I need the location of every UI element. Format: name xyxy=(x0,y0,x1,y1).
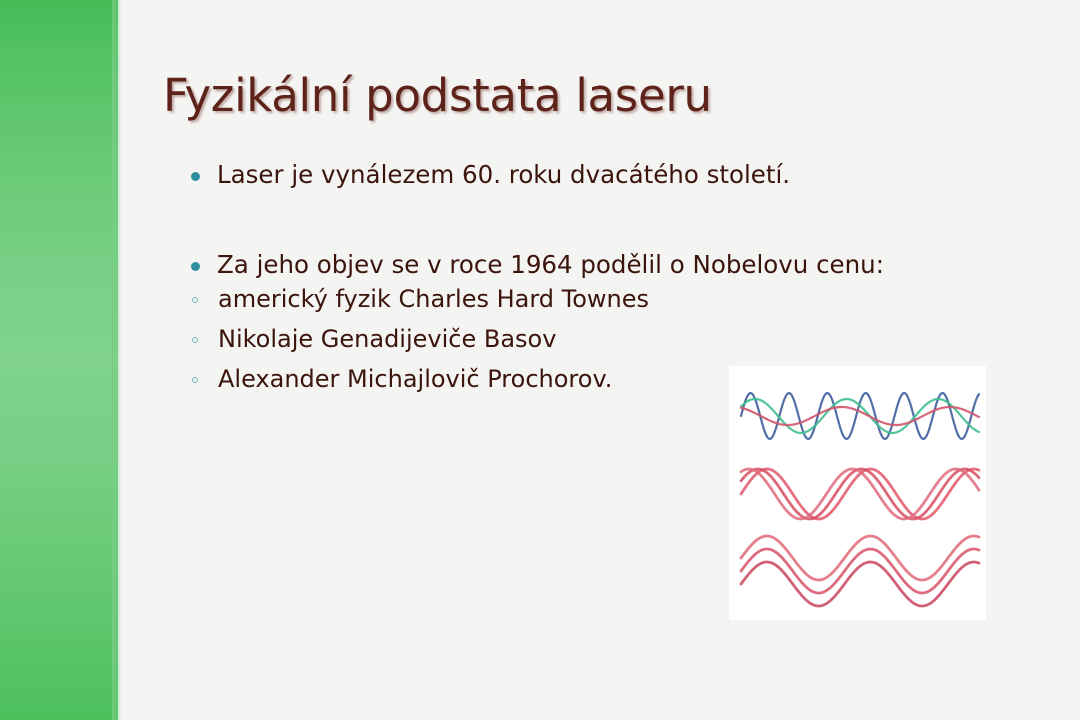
bullet-circle-icon xyxy=(192,377,198,383)
list-item: americký fyzik Charles Hard Townes xyxy=(180,282,1010,316)
list-item-label: Nikolaje Genadijeviče Basov xyxy=(218,325,556,353)
list-spacer xyxy=(180,192,1010,248)
bullet-circle-icon xyxy=(192,337,198,343)
left-accent-band-fade xyxy=(112,0,122,720)
bullet-circle-icon xyxy=(192,297,198,303)
bullet-dot-icon xyxy=(191,172,200,181)
slide-canvas: Fyzikální podstata laseru Laser je vynál… xyxy=(0,0,1080,720)
page-title: Fyzikální podstata laseru xyxy=(163,69,712,122)
list-item: Za jeho objev se v roce 1964 podělil o N… xyxy=(180,248,1010,282)
wave-comparison-image xyxy=(729,366,986,620)
list-item: Laser je vynálezem 60. roku dvacátého st… xyxy=(180,158,1010,192)
wave-diagram-svg xyxy=(729,366,986,620)
list-item-label: Za jeho objev se v roce 1964 podělil o N… xyxy=(217,250,884,279)
left-accent-band xyxy=(0,0,118,720)
list-item-label: Laser je vynálezem 60. roku dvacátého st… xyxy=(217,160,790,189)
list-item-label: Alexander Michajlovič Prochorov. xyxy=(218,365,612,393)
content-bullet-list: Laser je vynálezem 60. roku dvacátého st… xyxy=(180,158,1010,396)
list-item-label: americký fyzik Charles Hard Townes xyxy=(218,285,649,313)
bullet-dot-icon xyxy=(191,262,200,271)
list-item: Nikolaje Genadijeviče Basov xyxy=(180,322,1010,356)
